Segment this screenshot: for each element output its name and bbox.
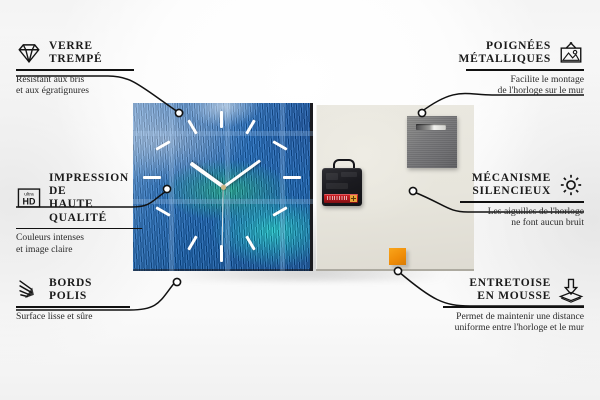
gear-icon [558, 172, 584, 198]
clock-tick [220, 111, 223, 128]
polished-edges-icon [16, 277, 42, 303]
callout-mecanisme-silencieux: MÉCANISME SILENCIEUX Les aiguilles de l'… [460, 172, 584, 229]
infographic-canvas: VERRE TREMPÉ Résistant aux bris et aux é… [0, 0, 600, 400]
callout-description: Surface lisse et sûre [16, 311, 130, 322]
clock-tick [143, 176, 161, 179]
movement-marking [326, 173, 338, 180]
clock-second-hand [221, 188, 223, 246]
callout-description: Résistant aux bris et aux égratignures [16, 74, 134, 97]
callout-description: Permet de maintenir une distance uniform… [443, 311, 584, 334]
callout-title: MÉCANISME SILENCIEUX [472, 172, 551, 198]
clock-tick [245, 119, 256, 134]
ultra-hd-icon-main-text: HD [23, 197, 36, 207]
movement-body [322, 168, 362, 206]
callout-rule [443, 306, 584, 307]
wall-frame-hook-icon [558, 40, 584, 66]
callout-rule [16, 306, 130, 307]
hanger-slot [416, 124, 446, 130]
clock-tick [187, 235, 198, 250]
arrow-down-pad-icon [558, 277, 584, 303]
callout-rule [16, 228, 142, 229]
art-band [280, 103, 285, 271]
callout-title: POIGNÉES MÉTALLIQUES [459, 40, 551, 66]
callout-bords-polis: BORDS POLIS Surface lisse et sûre [16, 277, 130, 322]
clock-tick [187, 119, 198, 134]
callout-rule [460, 201, 584, 202]
battery-label [327, 196, 347, 200]
clock-center-cap [221, 185, 226, 190]
callout-title: IMPRESSION DE HAUTE QUALITÉ [49, 172, 142, 225]
callout-entretoise-mousse: ENTRETOISE EN MOUSSE Permet de maintenir… [443, 277, 584, 334]
foam-spacer [389, 248, 406, 265]
callout-poignees-metalliques: POIGNÉES MÉTALLIQUES Facilite le montage… [466, 40, 584, 97]
clock-tick [155, 140, 170, 151]
callout-title: ENTRETOISE EN MOUSSE [469, 277, 551, 303]
metal-hanger-plate [407, 116, 457, 168]
diamond-icon [16, 40, 42, 66]
movement-marking [326, 183, 348, 189]
callout-rule [16, 69, 134, 70]
clock-tick [245, 235, 256, 250]
movement-marking [341, 172, 357, 177]
callout-description: Les aiguilles de l'horloge ne font aucun… [460, 206, 584, 229]
callout-title: VERRE TREMPÉ [49, 40, 102, 66]
product-image [133, 103, 477, 275]
clock-glass-face [133, 103, 313, 271]
art-band [133, 131, 313, 136]
battery [324, 194, 358, 203]
callout-rule [466, 69, 584, 70]
clock-tick [272, 206, 287, 217]
callout-description: Facilite le montage de l'horloge sur le … [466, 74, 584, 97]
callout-impression-hd: ultra HD IMPRESSION DE HAUTE QUALITÉ Cou… [16, 172, 142, 255]
callout-title: BORDS POLIS [49, 277, 92, 303]
art-band [169, 103, 174, 271]
ultra-hd-icon: ultra HD [16, 185, 42, 211]
callout-verre-trempe: VERRE TREMPÉ Résistant aux bris et aux é… [16, 40, 134, 97]
clock-tick [272, 140, 287, 151]
clock-tick [283, 176, 301, 179]
clock-tick [220, 245, 223, 262]
clock-hour-hand [190, 162, 224, 188]
clock-minute-hand [222, 159, 261, 189]
battery-plus-terminal [350, 195, 357, 202]
callout-description: Couleurs intenses et image claire [16, 232, 142, 255]
quartz-movement [322, 166, 362, 206]
clock-tick [155, 206, 170, 217]
